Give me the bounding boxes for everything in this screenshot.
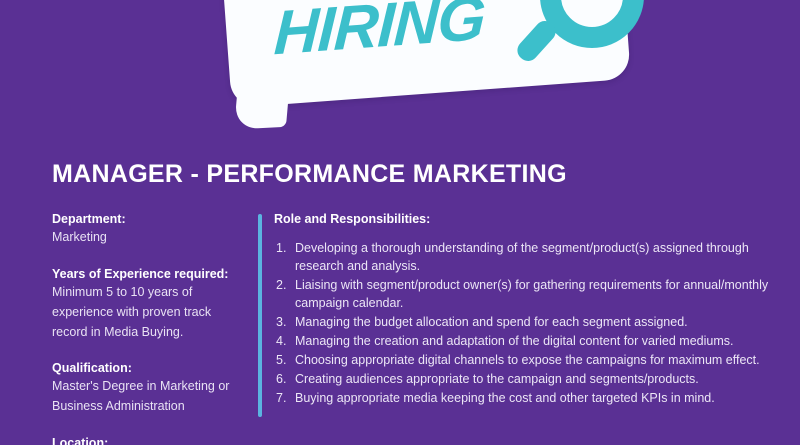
column-divider: [258, 214, 262, 417]
hiring-banner: HIRING: [0, 0, 800, 135]
magnifier-handle: [513, 17, 559, 65]
detail-value: Master's Degree in Marketing or Business…: [52, 377, 248, 417]
list-item: Managing the budget allocation and spend…: [274, 313, 784, 331]
magnifying-glass-icon: [512, 0, 652, 84]
detail-value: Marketing: [52, 228, 248, 248]
magnifier-ring: [540, 0, 644, 48]
detail-qualification: Qualification: Master's Degree in Market…: [52, 359, 248, 417]
speech-bubble-tail: [234, 81, 290, 130]
job-details-column: Department: Marketing Years of Experienc…: [52, 210, 248, 445]
detail-department: Department: Marketing: [52, 210, 248, 248]
detail-value: Minimum 5 to 10 years of experience with…: [52, 283, 248, 342]
list-item: Liaising with segment/product owner(s) f…: [274, 276, 784, 312]
list-item: Developing a thorough understanding of t…: [274, 239, 784, 275]
list-item: Creating audiences appropriate to the ca…: [274, 370, 784, 388]
detail-label: Department:: [52, 210, 248, 228]
responsibilities-column: Role and Responsibilities: Developing a …: [274, 212, 784, 408]
list-item: Buying appropriate media keeping the cos…: [274, 389, 784, 407]
detail-label: Years of Experience required:: [52, 265, 248, 283]
detail-label: Qualification:: [52, 359, 248, 377]
detail-experience: Years of Experience required: Minimum 5 …: [52, 265, 248, 342]
list-item: Managing the creation and adaptation of …: [274, 332, 784, 350]
list-item: Choosing appropriate digital channels to…: [274, 351, 784, 369]
detail-label: Location:: [52, 434, 248, 445]
responsibilities-list: Developing a thorough understanding of t…: [274, 239, 784, 407]
section-heading: Role and Responsibilities:: [274, 212, 784, 226]
detail-location: Location: Karachi: [52, 434, 248, 445]
page-title: MANAGER - PERFORMANCE MARKETING: [52, 160, 567, 189]
